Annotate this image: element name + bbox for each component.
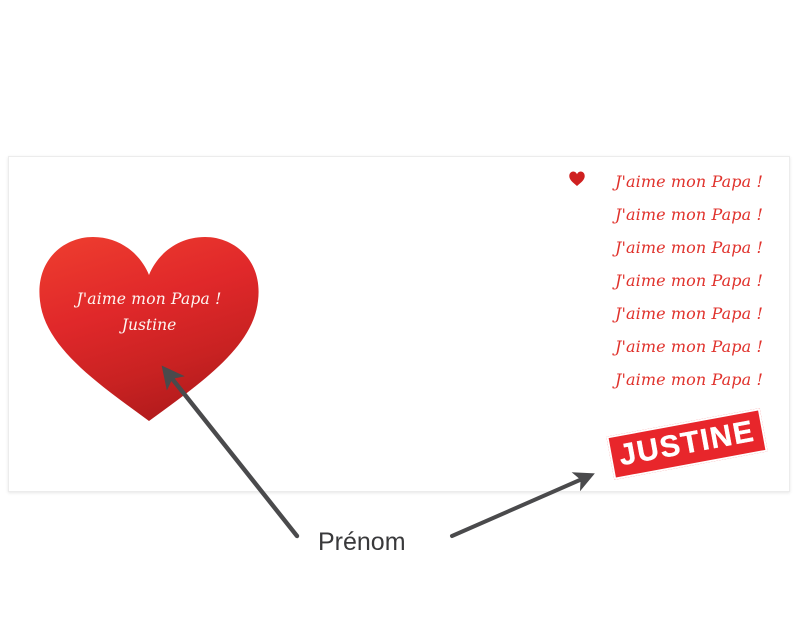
product-preview-card[interactable]: J'aime mon Papa ! Justine J'aime mon Pap… <box>8 156 790 492</box>
list-item: J'aime mon Papa ! <box>601 231 786 264</box>
prenom-annotation-label: Prénom <box>318 529 406 557</box>
repeated-message-list: J'aime mon Papa ! J'aime mon Papa ! J'ai… <box>601 165 786 396</box>
heart-graphic: J'aime mon Papa ! Justine <box>37 235 261 421</box>
mini-heart-icon <box>569 171 585 186</box>
message-text: J'aime mon Papa ! <box>615 271 763 290</box>
list-item: J'aime mon Papa ! <box>601 363 786 396</box>
list-item: J'aime mon Papa ! <box>601 198 786 231</box>
message-text: J'aime mon Papa ! <box>615 304 763 323</box>
list-item: J'aime mon Papa ! <box>601 264 786 297</box>
stamp-border: JUSTINE <box>606 408 767 480</box>
heart-path <box>39 237 258 421</box>
message-text: J'aime mon Papa ! <box>615 205 763 224</box>
justine-stamp: JUSTINE <box>606 408 767 480</box>
list-item: J'aime mon Papa ! <box>601 297 786 330</box>
list-item: J'aime mon Papa ! <box>601 330 786 363</box>
message-text: J'aime mon Papa ! <box>615 370 763 389</box>
list-item: J'aime mon Papa ! <box>601 165 786 198</box>
screenshot-stage: J'aime mon Papa ! Justine J'aime mon Pap… <box>0 0 800 640</box>
message-text: J'aime mon Papa ! <box>615 337 763 356</box>
message-text: J'aime mon Papa ! <box>615 172 763 191</box>
stamp-label: JUSTINE <box>617 417 757 472</box>
message-text: J'aime mon Papa ! <box>615 238 763 257</box>
